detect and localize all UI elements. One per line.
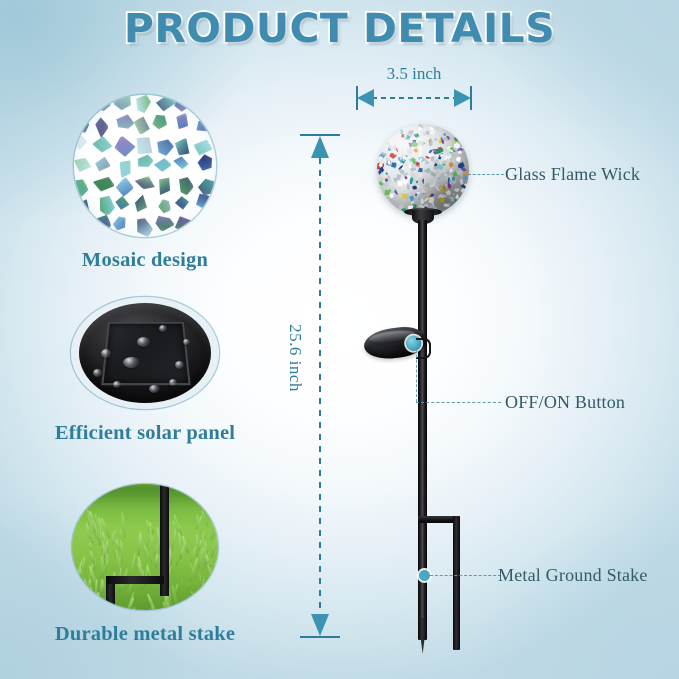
grass-blade: [196, 534, 198, 557]
dimension-width: 3.5 inch: [348, 64, 480, 110]
mosaic-shard: [195, 96, 210, 114]
water-droplet: [93, 369, 102, 377]
callout-leader-glass-flame-wick: [468, 174, 504, 175]
grass-blade: [99, 579, 104, 597]
feature-durable-metal-stake: Durable metal stake: [0, 484, 290, 646]
switch-pod-clip: [416, 338, 431, 359]
globe-mosaic-tile: [452, 193, 455, 196]
grass-blade: [211, 514, 214, 540]
solar-panel-image: [71, 297, 219, 409]
water-droplet: [137, 337, 150, 347]
grass-stake-image: [72, 484, 218, 610]
grass-blade: [154, 554, 158, 568]
callout-label-glass-flame-wick: Glass Flame Wick: [505, 164, 640, 185]
globe-mosaic-tile: [422, 178, 425, 184]
feature-label-mosaic-design: Mosaic design: [0, 249, 290, 272]
dimension-height: 25.6 inch: [272, 126, 332, 646]
dimension-height-arrow: [272, 126, 332, 646]
globe-mosaic-tile: [406, 183, 410, 190]
mosaic-vignette: [74, 95, 216, 237]
feature-efficient-solar-panel: Efficient solar panel: [0, 297, 290, 445]
callout-leader-vertical-off-on-button: [416, 350, 417, 402]
glass-mosaic-globe: [377, 124, 469, 216]
globe-mosaic-tile: [387, 142, 390, 145]
feature-label-efficient-solar-panel: Efficient solar panel: [0, 422, 290, 445]
callout-leader-metal-ground-stake: [430, 575, 501, 576]
page-title: PRODUCT DETAILS: [0, 6, 679, 52]
globe-mosaic-tile: [459, 178, 463, 186]
globe-mosaic-tile: [393, 188, 399, 196]
water-droplet: [159, 325, 167, 332]
water-droplet: [149, 385, 160, 393]
water-droplet: [175, 361, 184, 369]
water-droplet: [169, 379, 177, 386]
mosaic-shard: [75, 95, 94, 109]
grass-blade: [120, 540, 123, 564]
grass-blade: [206, 607, 210, 610]
grass-blade: [147, 593, 159, 610]
globe-mosaic-tile: [421, 189, 427, 194]
globe-mosaic-tile: [384, 168, 391, 173]
water-droplet: [123, 357, 140, 368]
dimension-width-arrow: [348, 64, 480, 110]
globe-mosaic-tile: [436, 127, 443, 133]
mosaic-design-image: [74, 95, 216, 237]
mosaic-shard: [197, 218, 212, 237]
callout-leader-off-on-button: [416, 402, 501, 403]
globe-mosaic-tile: [454, 187, 460, 192]
mosaic-shards: [74, 95, 216, 237]
stake-prong-second: [453, 516, 460, 650]
feature-label-durable-metal-stake: Durable metal stake: [0, 623, 290, 646]
water-droplet: [183, 339, 190, 345]
mosaic-shard: [74, 215, 97, 236]
callout-marker-metal-ground-stake: [419, 570, 430, 581]
globe-mosaic-tile: [443, 133, 447, 137]
grass-blade: [180, 579, 184, 588]
globe-mosaic-tile: [432, 138, 437, 142]
solar-housing: [79, 303, 211, 403]
grass-blade: [182, 604, 189, 610]
infographic-canvas: PRODUCT DETAILS Mosaic design: [0, 0, 679, 679]
callout-label-off-on-button: OFF/ON Button: [505, 392, 625, 413]
solar-cell-plate: [101, 322, 191, 385]
feature-mosaic-design: Mosaic design: [0, 95, 290, 272]
grass-blade: [89, 550, 96, 564]
callout-label-metal-ground-stake: Metal Ground Stake: [498, 565, 648, 586]
globe-mosaic-tile: [420, 186, 423, 189]
water-droplet: [101, 349, 111, 358]
globe-mosaic-tile: [427, 149, 432, 155]
globe-mosaic-tile: [427, 163, 432, 169]
thumb-stake-bridge: [106, 576, 164, 584]
grass-blade: [133, 607, 136, 610]
water-droplet: [113, 381, 121, 388]
mosaic-thumbnail-wrap: [0, 95, 290, 237]
globe-mosaic-tile: [417, 150, 423, 157]
